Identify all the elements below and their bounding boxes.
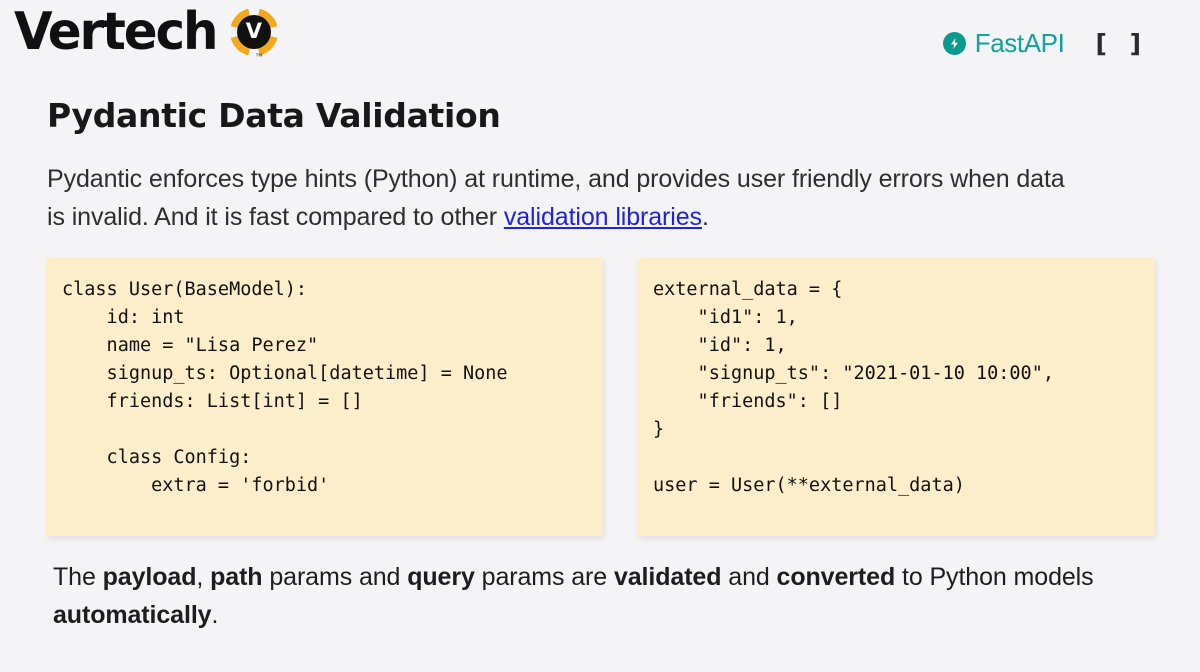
outro-emphasis: automatically — [53, 601, 211, 629]
intro-text-after: . — [702, 203, 709, 231]
fastapi-label: FastAPI — [975, 30, 1065, 56]
code-block-external-data: external_data = { "id1": 1, "id": 1, "si… — [637, 258, 1155, 536]
dark-disc-icon: V — [237, 15, 271, 49]
outro-text: and — [721, 563, 776, 591]
outro-paragraph: The payload, path params and query param… — [53, 558, 1133, 634]
outro-text: The — [53, 563, 103, 591]
slide-header: Vertech V ™ FastAPI [ ] — [0, 0, 1200, 82]
brackets-icon: [ ] — [1095, 31, 1148, 56]
validation-libraries-link[interactable]: validation libraries — [504, 203, 702, 231]
outro-emphasis: validated — [614, 563, 721, 591]
vertech-logo: Vertech V — [14, 6, 279, 58]
outro-emphasis: payload — [103, 563, 197, 591]
outro-text: params are — [475, 563, 614, 591]
outro-text: to Python models — [895, 563, 1093, 591]
header-right-group: FastAPI [ ] — [943, 30, 1148, 56]
outro-text: params and — [262, 563, 407, 591]
code-block-model-definition: class User(BaseModel): id: int name = "L… — [46, 258, 603, 536]
intro-paragraph: Pydantic enforces type hints (Python) at… — [47, 160, 1087, 236]
vertech-circle-icon: V — [229, 7, 279, 57]
brand-mark-letter: V — [246, 21, 262, 42]
outro-text: . — [211, 601, 218, 629]
page-title: Pydantic Data Validation — [47, 99, 501, 132]
outro-emphasis: converted — [777, 563, 896, 591]
outro-emphasis: query — [407, 563, 475, 591]
brand-wordmark: Vertech — [14, 6, 216, 58]
trademark-symbol: ™ — [255, 52, 263, 61]
outro-text: , — [196, 563, 210, 591]
outro-emphasis: path — [210, 563, 262, 591]
fastapi-lightning-icon — [943, 32, 966, 55]
